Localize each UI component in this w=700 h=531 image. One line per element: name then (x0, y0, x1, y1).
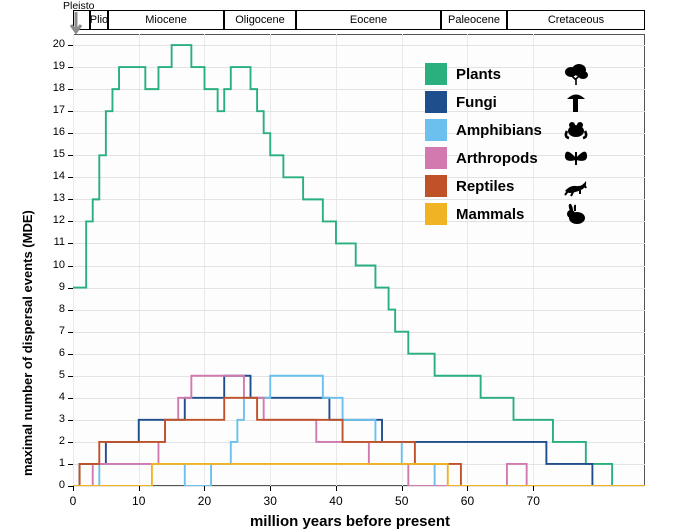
series-line-arthropods (73, 376, 645, 486)
legend-swatch (425, 91, 447, 113)
legend-item-plants[interactable]: Plants (425, 63, 591, 85)
legend-swatch (425, 175, 447, 197)
series-line-fungi (73, 376, 645, 486)
series-layer (0, 0, 700, 531)
mushroom-icon (561, 89, 591, 115)
butterfly-icon (561, 145, 591, 171)
series-line-amphibians (73, 376, 645, 486)
rabbit-icon (561, 201, 591, 227)
legend: PlantsFungiAmphibiansArthropodsReptilesM… (425, 63, 591, 225)
legend-label: Fungi (456, 94, 552, 111)
legend-label: Arthropods (456, 150, 552, 167)
legend-label: Reptiles (456, 178, 552, 195)
chart-container: PleistoPlioMioceneOligoceneEocenePaleoce… (0, 0, 700, 531)
legend-swatch (425, 203, 447, 225)
legend-swatch (425, 119, 447, 141)
legend-item-arthropods[interactable]: Arthropods (425, 147, 591, 169)
legend-label: Amphibians (456, 122, 552, 139)
legend-item-amphibians[interactable]: Amphibians (425, 119, 591, 141)
legend-item-reptiles[interactable]: Reptiles (425, 175, 591, 197)
legend-item-fungi[interactable]: Fungi (425, 91, 591, 113)
legend-item-mammals[interactable]: Mammals (425, 203, 591, 225)
legend-label: Mammals (456, 206, 552, 223)
legend-swatch (425, 63, 447, 85)
frog-icon (561, 117, 591, 143)
series-line-mammals (73, 464, 645, 486)
legend-swatch (425, 147, 447, 169)
legend-label: Plants (456, 66, 552, 83)
lizard-icon (561, 173, 591, 199)
tree-icon (561, 61, 591, 87)
